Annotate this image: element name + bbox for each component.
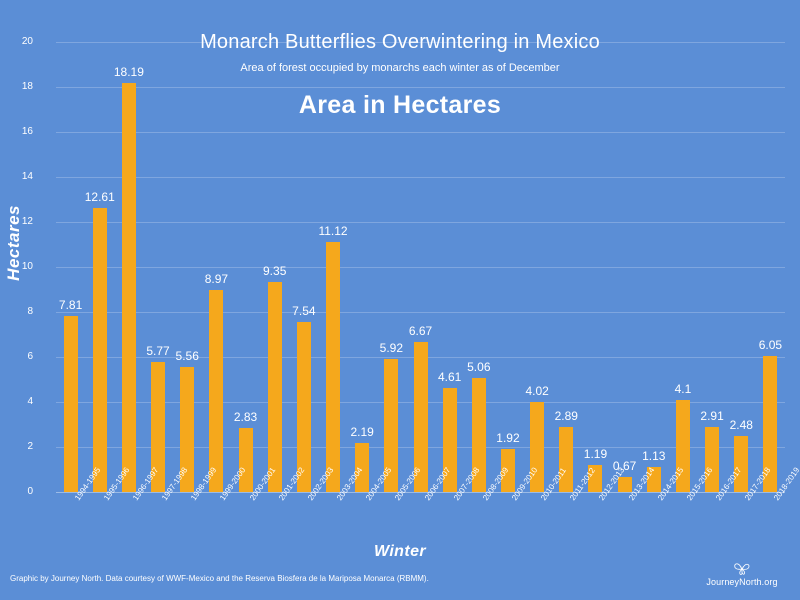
bar-value-label: 1.92 [496, 432, 519, 444]
bar-value-label: 5.77 [146, 345, 169, 357]
y-axis-tick-label: 0 [0, 487, 33, 497]
bar[interactable] [209, 290, 223, 492]
bar-value-label: 2.48 [730, 419, 753, 431]
bar[interactable] [268, 282, 282, 492]
bar-value-label: 5.56 [176, 350, 199, 362]
y-axis-title: Hectares [4, 205, 38, 281]
bar-value-label: 5.06 [467, 361, 490, 373]
journey-north-brand: JourneyNorth.org [694, 562, 790, 587]
bar[interactable] [705, 427, 719, 492]
bar-value-label: 2.89 [555, 410, 578, 422]
bar-value-label: 4.61 [438, 371, 461, 383]
chart-title: Monarch Butterflies Overwintering in Mex… [0, 30, 800, 54]
bar[interactable] [93, 208, 107, 492]
bar[interactable] [326, 242, 340, 492]
bar-value-label: 9.35 [263, 265, 286, 277]
bar-value-label: 1.19 [584, 448, 607, 460]
bar-value-label: 6.05 [759, 339, 782, 351]
bar-value-label: 12.61 [85, 191, 115, 203]
bar[interactable] [239, 428, 253, 492]
y-axis-tick-label: 14 [0, 172, 33, 182]
bar[interactable] [559, 427, 573, 492]
y-axis-tick-label: 8 [0, 307, 33, 317]
bar[interactable] [64, 316, 78, 492]
butterfly-icon [733, 562, 751, 576]
y-axis-tick-label: 6 [0, 352, 33, 362]
bar[interactable] [734, 436, 748, 492]
bar-value-label: 7.81 [59, 299, 82, 311]
bar-value-label: 4.02 [525, 385, 548, 397]
x-axis-title: Winter [0, 543, 800, 561]
bar-value-label: 2.91 [700, 410, 723, 422]
bar-value-label: 11.12 [318, 225, 347, 237]
bar-value-label: 7.54 [292, 305, 315, 317]
bar-value-label: 2.83 [234, 411, 257, 423]
bar-value-label: 1.13 [642, 450, 665, 462]
bar[interactable] [122, 83, 136, 492]
chart-subtitle: Area of forest occupied by monarchs each… [0, 60, 800, 76]
footer-credit: Graphic by Journey North. Data courtesy … [10, 574, 429, 584]
bar-value-label: 8.97 [205, 273, 228, 285]
bar-value-label: 4.1 [675, 383, 692, 395]
y-axis-tick-label: 16 [0, 127, 33, 137]
monarch-butterfly-bar-chart: Monarch Butterflies Overwintering in Mex… [0, 0, 800, 600]
chart-heading: Area in Hectares [0, 90, 800, 120]
bar-value-label: 6.67 [409, 325, 432, 337]
y-axis-tick-label: 4 [0, 397, 33, 407]
bar-value-label: 2.19 [350, 426, 373, 438]
brand-label: JourneyNorth.org [694, 577, 790, 587]
bar-value-label: 5.92 [380, 342, 403, 354]
y-axis-tick-label: 2 [0, 442, 33, 452]
